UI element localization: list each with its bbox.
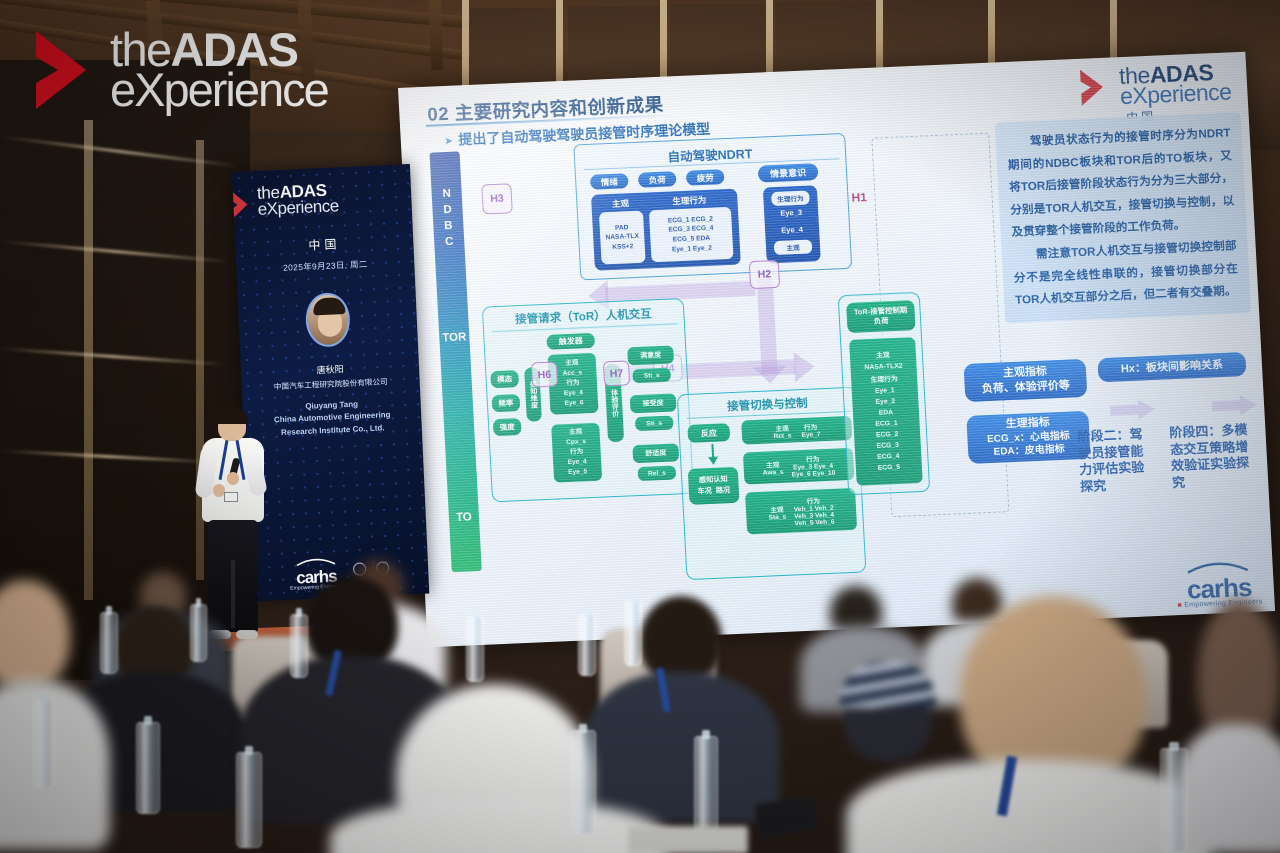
handover-row1: 主观 Rct_s 行为 Eye_7: [741, 416, 852, 445]
handover-r1-beh: 行为: [801, 421, 821, 432]
workload-panel: ToR-接管控制期 负荷 主观 NASA-TLX2 生理行为 Eye_1 Eye…: [838, 292, 931, 495]
handover-r1-subj-v: Rct_s: [773, 432, 791, 440]
chevron-logo-icon: [232, 187, 254, 222]
h2-mid-box: H2: [749, 260, 780, 289]
workload-physio-item: ECG_5: [877, 461, 900, 473]
handover-r1-subj: 主观: [773, 422, 791, 433]
presenter-leg-gap: [231, 560, 235, 628]
water-bottle: [624, 600, 642, 666]
tor-a-subj-label: 主观: [565, 359, 579, 369]
tor-b-beh-value: Eye_5: [568, 467, 588, 478]
audience-torso: [584, 672, 780, 822]
presentation-screen: theADAS eXperience 中国 02 主要研究内容和创新成果 提出了…: [398, 52, 1275, 647]
side-logo-experience: eXperience: [257, 196, 339, 220]
carhs-arc-icon: [1186, 558, 1251, 574]
legend-hx: Hx：板块间影响关系: [1097, 352, 1246, 382]
presenter-hair: [216, 407, 248, 424]
tor-acceptance-title: 接受度: [642, 398, 664, 409]
workload-subj-value: NASA-TLX2: [864, 360, 903, 373]
handover-r3-subj: 主观: [768, 503, 786, 514]
ndrt-panel: 自动驾驶NDRT 情绪 负荷 疲劳 情景意识 主观 生理行为 PAD NASA-…: [573, 133, 852, 280]
phase-ndbc: NDBC: [431, 185, 464, 250]
handover-r1-beh-v: Eye_7: [801, 431, 820, 439]
phase-bar: NDBC TOR TO: [429, 151, 481, 572]
phase-to: TO: [449, 511, 480, 524]
ndrt-tag-workload: 负荷: [638, 171, 677, 188]
ndrt-tag-fatigue: 疲劳: [686, 169, 725, 186]
tor-frequency: 频率: [491, 394, 520, 412]
flow-arrow-right-icon: [793, 350, 817, 383]
h6-box: H6: [531, 361, 558, 387]
carhs-logo: carhs ■ Empowering Engineers: [1175, 557, 1263, 609]
audience-torso: [846, 760, 1210, 853]
workload-physio-item: EDA: [878, 407, 893, 419]
audience-torso: [1176, 724, 1280, 853]
water-bottle: [290, 614, 308, 678]
presenter-hand: [227, 472, 239, 485]
explanation-paragraph-2: 需注意TOR人机交互与接管切换控制部分不是完全线性串联的，接管切换部分在TOR人…: [1012, 235, 1239, 312]
presenter-badge: [224, 492, 238, 502]
ndrt-sa-block: 生理行为 Eye_3 Eye_4 主观: [763, 185, 821, 263]
tor-b-subj-value: Cpx_s: [566, 437, 586, 448]
water-bottle: [694, 736, 718, 834]
water-bottle: [100, 612, 118, 674]
water-bottle: [466, 616, 484, 682]
tor-a-subj-value: Acc_s: [562, 369, 582, 380]
tor-modality: 模态: [490, 370, 519, 388]
carhs-arc-icon: [296, 555, 336, 566]
speaker-org-cn: 中国汽车工程研究院股份有限公司: [274, 377, 388, 391]
tor-comfort-title: 舒适度: [645, 448, 667, 459]
ndrt-physio-label: 生理行为: [653, 193, 726, 208]
workload-subj-label: 主观: [876, 350, 890, 362]
explanation-paragraph-1: 驾驶员状态行为的接管时序分为NDRT期间的NDBC板块和TOR后的TO板块，又将…: [1006, 122, 1236, 244]
tor-b-subj-label: 主观: [569, 428, 583, 438]
ndrt-tag-emotion: 情绪: [590, 173, 629, 190]
explanation-panel: 驾驶员状态行为的接管时序分为NDRT期间的NDBC板块和TOR后的TO板块，又将…: [995, 112, 1251, 323]
tor-satisfaction-title: 满意度: [640, 350, 662, 361]
tor-satisfaction: 满意度: [627, 345, 674, 365]
handover-panel: 接管切换与控制 反应 感知认知 车况 路况 主观: [677, 387, 867, 580]
tor-block-b: 主观 Cpx_s 行为 Eye_4 Eye_5: [551, 423, 602, 483]
handover-r2-beh-v: Eye_6 Eye_10: [792, 470, 836, 479]
ndrt-sa-physio-label: 生理行为: [771, 191, 810, 207]
legend-physio-l3: EDA：皮电指标: [993, 443, 1065, 460]
h3-box: H3: [481, 183, 513, 214]
water-bottle: [190, 604, 207, 662]
notebook-on-table: [628, 826, 748, 853]
phase-arrow-icon: [1212, 394, 1259, 418]
handover-row2: 主观 Awa_s 行为 Eye_3 Eye_4 Eye_6 Eye_10: [743, 448, 855, 485]
water-bottle: [1160, 748, 1188, 852]
legend-subjective: 主观指标 负荷、体验评价等: [963, 359, 1087, 402]
side-brand-logo: theADAS eXperience: [257, 181, 340, 220]
tor-intensity: 强度: [493, 418, 522, 436]
workload-header: ToR-接管控制期 负荷: [846, 300, 916, 333]
overlay-logo-experience: eXperience: [110, 68, 328, 112]
tor-satisfaction-value: Sti_s: [632, 368, 671, 384]
h1-label: H1: [851, 190, 867, 205]
phase-arrow-icon: [1110, 398, 1157, 422]
tor-trigger: 触发器: [546, 333, 595, 350]
handover-cognition: 感知认知 车况 路况: [688, 467, 740, 505]
slide-surface: theADAS eXperience 中国 02 主要研究内容和创新成果 提出了…: [398, 52, 1275, 647]
handover-r3-subj-v: Sta_s: [768, 513, 786, 521]
handover-r3-beh-v: Veh_5 Veh_6: [794, 518, 834, 527]
conference-photo: theADAS eXperience 中国 02 主要研究内容和创新成果 提出了…: [0, 0, 1280, 853]
tor-a-beh-value: Eye_6: [564, 398, 584, 409]
tor-comfort: 舒适度: [632, 443, 679, 463]
handover-r2-subj-v: Awa_s: [763, 468, 784, 476]
presenter: [196, 410, 270, 642]
chevron-logo-icon: [30, 28, 96, 112]
tor-hmi-panel: 接管请求（ToR）人机交互 触发器 模态 频率 强度 感知维度 主观 Acc_s…: [482, 298, 694, 502]
handover-row3: 主观 Sta_s 行为 Veh_1 Veh_2 Veh_3 Veh_4 Veh_…: [745, 488, 857, 535]
h7-box: H7: [603, 360, 630, 386]
water-bottle: [578, 614, 596, 676]
water-bottle: [33, 700, 55, 788]
ceiling-beam: [429, 0, 443, 70]
water-bottle: [236, 752, 262, 848]
water-bottle: [136, 722, 160, 814]
legend-phase4: 阶段四：多模态交互策略增效验证实验探究: [1169, 422, 1254, 492]
workload-items: 主观 NASA-TLX2 生理行为 Eye_1 Eye_2 EDA ECG_1 …: [849, 337, 923, 486]
slide-logo-experience: eXperience: [1119, 80, 1231, 107]
down-arrow-icon: [706, 444, 719, 466]
avatar-hair: [313, 297, 346, 315]
handover-cognition-vehicle: 车况: [697, 486, 712, 497]
workload-physio-item: Eye_2: [875, 396, 895, 408]
ndrt-measure-block: 主观 生理行为 PAD NASA-TLX KSS+2 ECG_1 ECG_2 E…: [591, 189, 741, 271]
ndrt-physio-items: ECG_1 ECG_2 ECG_3 ECG_4 ECG_5 EDA Eye_1 …: [649, 207, 734, 262]
wall-pillar: [84, 120, 93, 600]
handover-cognition-road: 路况: [716, 485, 731, 496]
workload-header-l2: 负荷: [873, 316, 888, 327]
ndrt-subjective-items: PAD NASA-TLX KSS+2: [599, 211, 646, 265]
ndrt-physio-item: Eye_1 Eye_2: [672, 243, 712, 254]
ndrt-sa-eye4: Eye_4: [765, 224, 819, 235]
tor-acceptance: 接受度: [630, 393, 677, 413]
tor-comfort-value: Rel_s: [638, 465, 677, 481]
ndrt-tag-situation-awareness: 情景意识: [758, 163, 819, 183]
tor-b-beh-label: 行为: [570, 447, 584, 457]
workload-physio-item: Eye_1: [875, 385, 895, 397]
tor-a-beh-label: 行为: [566, 379, 580, 389]
audience-head: [640, 596, 722, 684]
chevron-logo-icon: [1076, 67, 1112, 108]
ndrt-sa-subj-label: 主观: [774, 239, 813, 255]
handover-reaction: 反应: [687, 423, 730, 443]
legend-phase2: 阶段二：驾驶员接管能力评估实验探究: [1077, 426, 1156, 496]
legend-subjective-l2: 负荷、体验评价等: [981, 379, 1070, 398]
ndrt-subjective-label: 主观: [599, 197, 642, 211]
overlay-brand-logo: theADAS eXperience: [30, 28, 328, 112]
ndrt-sa-eye3: Eye_3: [764, 207, 818, 218]
legend-physio: 生理指标 ECG_x：心电指标 EDA：皮电指标: [966, 411, 1090, 464]
water-bottle: [570, 730, 596, 834]
ndrt-subj-item: KSS+2: [612, 242, 634, 252]
phase-tor: TOR: [439, 331, 470, 344]
tor-acceptance-value: Sti_s: [635, 416, 674, 432]
